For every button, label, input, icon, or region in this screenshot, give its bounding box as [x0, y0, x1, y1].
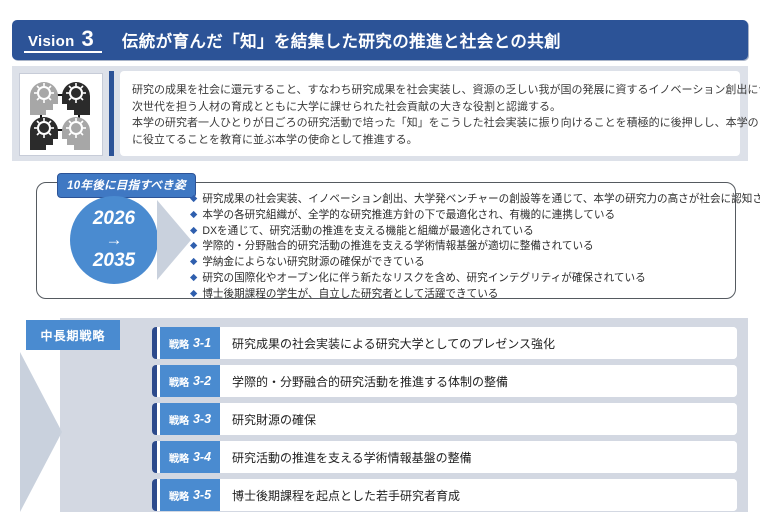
strategy-tag-number: 3-2 — [193, 374, 211, 388]
bullet-text: DXを通じて、研究活動の推進を支える機能と組織が最適化されている — [202, 224, 533, 239]
strategy-tag: 戦略 3-4 — [160, 441, 220, 473]
diamond-bullet-icon: ◆ — [190, 287, 197, 302]
list-item: ◆ 博士後期課程の学生が、自立した研究者として活躍できている — [190, 287, 730, 302]
year-from: 2026 — [93, 209, 135, 229]
strategy-tag-word: 戦略 — [169, 374, 189, 389]
bullet-text: 研究成果の社会実装、イノベーション創出、大学発ベンチャーの創設等を通じて、本学の… — [202, 192, 760, 207]
bullet-text: 研究の国際化やオープン化に伴う新たなリスクを含め、研究インテグリティが確保されて… — [202, 271, 645, 286]
strategy-row-text: 研究活動の推進を支える学術情報基盤の整備 — [220, 441, 737, 473]
strategy-tag-number: 3-1 — [193, 336, 211, 350]
vision-tag: Vision 3 — [24, 28, 102, 53]
year-to: 2035 — [93, 251, 135, 271]
intro-text-panel: 研究の成果を社会に還元すること、すなわち研究成果を社会実装し、資源の乏しい我が国… — [120, 71, 740, 156]
strategy-tag-word: 戦略 — [169, 488, 189, 503]
list-item: ◆ 研究成果の社会実装、イノベーション創出、大学発ベンチャーの創設等を通じて、本… — [190, 192, 730, 207]
bullet-text: 博士後期課程の学生が、自立した研究者として活躍できている — [202, 287, 498, 302]
strategy-tag: 戦略 3-2 — [160, 365, 220, 397]
list-item: ◆ DXを通じて、研究活動の推進を支える機能と組織が最適化されている — [190, 224, 730, 239]
bullet-text: 学納金によらない研究財源の確保ができている — [202, 255, 424, 270]
table-row[interactable]: 戦略 3-4 研究活動の推進を支える学術情報基盤の整備 — [152, 441, 737, 473]
list-item: ◆ 本学の各研究組織が、全学的な研究推進方針の下で最適化され、有機的に連携してい… — [190, 208, 730, 223]
intro-divider — [109, 71, 114, 156]
year-range-circle: 2026 → 2035 — [70, 196, 158, 284]
strategy-tag-number: 3-3 — [193, 412, 211, 426]
diamond-bullet-icon: ◆ — [190, 192, 197, 207]
vision-label: Vision — [28, 33, 75, 50]
strategy-row-text: 博士後期課程を起点とした若手研究者育成 — [220, 479, 737, 511]
table-row[interactable]: 戦略 3-1 研究成果の社会実装による研究大学としてのプレゼンス強化 — [152, 327, 737, 359]
list-item: ◆ 学納金によらない研究財源の確保ができている — [190, 255, 730, 270]
table-row[interactable]: 戦略 3-3 研究財源の確保 — [152, 403, 737, 435]
strategy-row-text: 学際的・分野融合的研究活動を推進する体制の整備 — [220, 365, 737, 397]
table-row[interactable]: 戦略 3-5 博士後期課程を起点とした若手研究者育成 — [152, 479, 737, 511]
intro-band: 研究の成果を社会に還元すること、すなわち研究成果を社会実装し、資源の乏しい我が国… — [12, 66, 748, 161]
intro-line: 本学の研究者一人ひとりが日ごろの研究活動で培った「知」をこうした社会実装に振り向… — [132, 115, 728, 132]
page-title: 伝統が育んだ「知」を結集した研究の推進と社会との共創 — [122, 28, 561, 52]
table-row[interactable]: 戦略 3-2 学際的・分野融合的研究活動を推進する体制の整備 — [152, 365, 737, 397]
list-item: ◆ 学際的・分野融合的研究活動の推進を支える学術情報基盤が適切に整備されている — [190, 239, 730, 254]
intro-line: に役立てることを教育に並ぶ本学の使命として推進する。 — [132, 132, 728, 149]
strategy-section-label: 中長期戦略 — [26, 320, 120, 350]
diamond-bullet-icon: ◆ — [190, 239, 197, 254]
vision-number: 3 — [82, 28, 94, 50]
diamond-bullet-icon: ◆ — [190, 271, 197, 286]
bullet-text: 本学の各研究組織が、全学的な研究推進方針の下で最適化され、有機的に連携している — [202, 208, 615, 223]
ten-year-goal-badge: 10年後に目指すべき姿 — [57, 173, 196, 198]
list-item: ◆ 研究の国際化やオープン化に伴う新たなリスクを含め、研究インテグリティが確保さ… — [190, 271, 730, 286]
strategy-tag: 戦略 3-3 — [160, 403, 220, 435]
strategy-tag: 戦略 3-5 — [160, 479, 220, 511]
connected-minds-icon — [19, 73, 103, 156]
strategy-tag-number: 3-5 — [193, 488, 211, 502]
diamond-bullet-icon: ◆ — [190, 224, 197, 239]
strategy-tag-word: 戦略 — [169, 450, 189, 465]
strategy-tag-number: 3-4 — [193, 450, 211, 464]
vision-header-bar: Vision 3 伝統が育んだ「知」を結集した研究の推進と社会との共創 — [12, 20, 748, 60]
diamond-bullet-icon: ◆ — [190, 208, 197, 223]
strategy-tag: 戦略 3-1 — [160, 327, 220, 359]
diamond-bullet-icon: ◆ — [190, 255, 197, 270]
intro-line: 次世代を担う人材の育成とともに大学に課せられた社会貢献の大きな役割と認識する。 — [132, 99, 728, 116]
strategy-tag-word: 戦略 — [169, 412, 189, 427]
strategy-row-text: 研究財源の確保 — [220, 403, 737, 435]
strategy-row-list: 戦略 3-1 研究成果の社会実装による研究大学としてのプレゼンス強化 戦略 3-… — [152, 327, 737, 517]
strategy-row-text: 研究成果の社会実装による研究大学としてのプレゼンス強化 — [220, 327, 737, 359]
strategy-tag-word: 戦略 — [169, 336, 189, 351]
bullet-text: 学際的・分野融合的研究活動の推進を支える学術情報基盤が適切に整備されている — [202, 239, 593, 254]
year-arrow-icon: → — [106, 229, 123, 251]
strategy-arrow-icon — [18, 352, 62, 512]
intro-line: 研究の成果を社会に還元すること、すなわち研究成果を社会実装し、資源の乏しい我が国… — [132, 82, 728, 99]
vision-bullet-list: ◆ 研究成果の社会実装、イノベーション創出、大学発ベンチャーの創設等を通じて、本… — [190, 192, 730, 303]
